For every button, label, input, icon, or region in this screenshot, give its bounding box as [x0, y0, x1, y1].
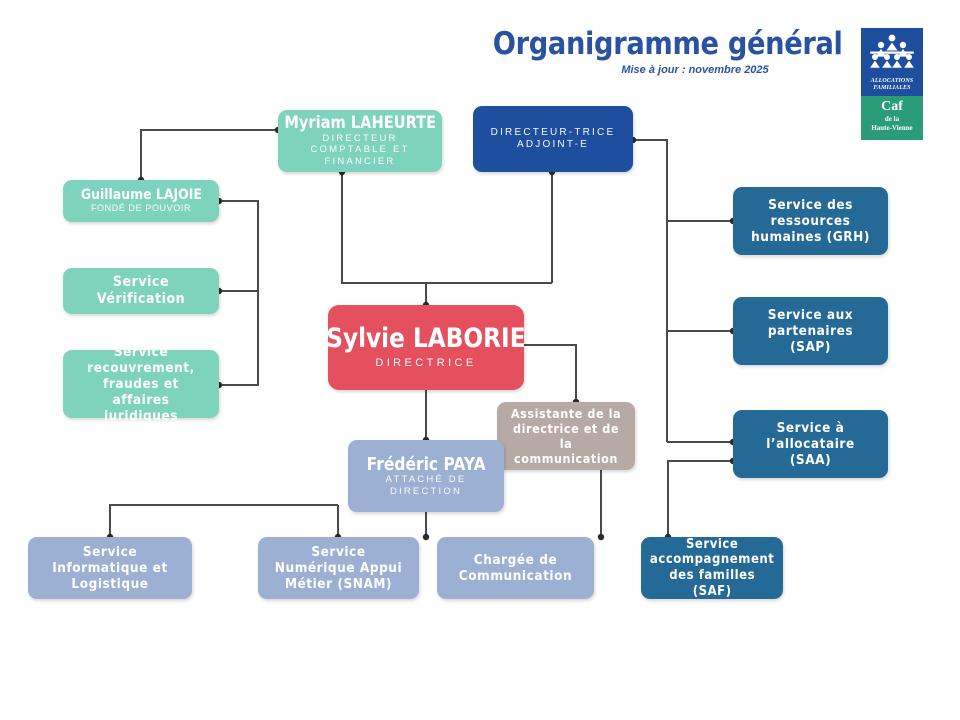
node-role: DIRECTRICE	[375, 357, 476, 370]
node-service-recouvrement[interactable]: Service recouvrement, fraudes et affaire…	[63, 350, 219, 418]
node-service-verification[interactable]: Service Vérification	[63, 268, 219, 314]
node-label: Assistante de la directrice et de la com…	[509, 406, 622, 466]
node-assistante-directrice-communication[interactable]: Assistante de la directrice et de la com…	[497, 402, 635, 470]
node-directeur-comptable-financier[interactable]: Myriam LAHEURTE DIRECTEUR COMPTABLE ET F…	[278, 110, 442, 172]
family-figures-icon	[869, 33, 915, 71]
node-role: ATTACHÉ DE DIRECTION	[361, 474, 491, 497]
logo-green-block: Caf de la Haute-Vienne	[861, 96, 923, 140]
node-name: Frédéric PAYA	[367, 455, 486, 474]
logo-departement-text: Haute-Vienne	[861, 124, 923, 133]
node-name: Sylvie LABORIE	[326, 324, 525, 353]
node-service-ressources-humaines[interactable]: Service des ressources humaines (GRH)	[733, 187, 888, 255]
logo-dela-text: de la	[861, 115, 923, 124]
node-name: Guillaume LAJOIE	[80, 188, 201, 204]
node-name: Myriam LAHEURTE	[284, 114, 436, 132]
node-role: DIRECTEUR COMPTABLE ET FINANCIER	[290, 133, 430, 168]
node-service-aux-partenaires[interactable]: Service aux partenaires (SAP)	[733, 297, 888, 365]
node-attache-de-direction[interactable]: Frédéric PAYA ATTACHÉ DE DIRECTION	[348, 440, 504, 512]
node-service-allocataire[interactable]: Service à l’allocataire (SAA)	[733, 410, 888, 478]
node-label: Service accompagnement des familles (SAF…	[650, 537, 775, 599]
logo-allocations-familiales: ALLOCATIONSFAMILIALES	[861, 78, 923, 92]
node-label: Service aux partenaires (SAP)	[746, 307, 875, 356]
node-chargee-communication[interactable]: Chargée de Communication	[437, 537, 594, 599]
logo-blue-block: ALLOCATIONSFAMILIALES	[861, 28, 923, 96]
node-role: FONDÉ DE POUVOIR	[91, 203, 191, 214]
organigramme-canvas: Organigramme général Mise à jour : novem…	[0, 0, 960, 720]
node-directeur-adjoint[interactable]: DIRECTEUR-TRICE ADJOINT-E	[473, 106, 633, 172]
node-label: Chargée de Communication	[450, 552, 581, 584]
node-service-numerique-appui-metier[interactable]: Service Numérique Appui Métier (SNAM)	[258, 537, 419, 599]
node-label: Service Vérification	[76, 274, 206, 308]
node-fonde-de-pouvoir[interactable]: Guillaume LAJOIE FONDÉ DE POUVOIR	[63, 180, 219, 222]
node-directrice[interactable]: Sylvie LABORIE DIRECTRICE	[328, 305, 524, 390]
update-date: Mise à jour : novembre 2025	[570, 64, 820, 76]
logo-caf-text: Caf	[861, 96, 923, 115]
node-label: Service recouvrement, fraudes et affaire…	[76, 344, 206, 425]
node-label: Service Informatique et Logistique	[42, 544, 179, 593]
page-title: Organigramme général	[493, 26, 827, 62]
node-label: Service à l’allocataire (SAA)	[746, 420, 875, 469]
caf-logo: ALLOCATIONSFAMILIALES Caf de la Haute-Vi…	[861, 28, 923, 140]
node-role: DIRECTEUR-TRICE ADJOINT-E	[483, 127, 623, 151]
node-service-informatique-logistique[interactable]: Service Informatique et Logistique	[28, 537, 192, 599]
node-service-accompagnement-familles[interactable]: Service accompagnement des familles (SAF…	[641, 537, 783, 599]
node-label: Service des ressources humaines (GRH)	[746, 197, 875, 246]
node-label: Service Numérique Appui Métier (SNAM)	[271, 544, 405, 593]
